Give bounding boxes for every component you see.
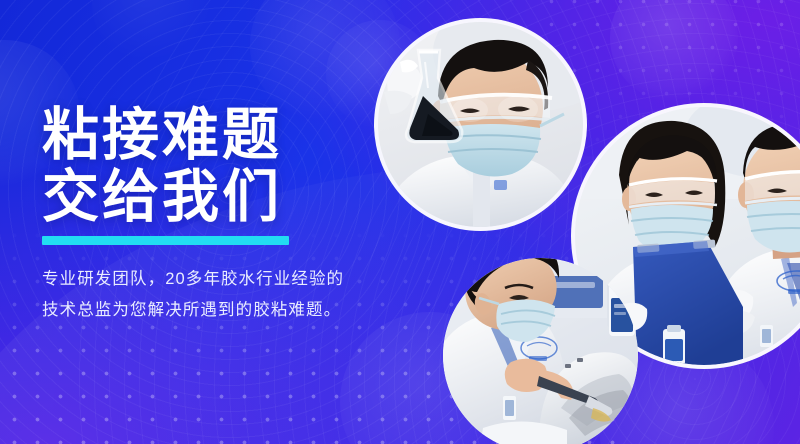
headline-underline-bar bbox=[42, 236, 289, 245]
promo-banner: 粘接难题 交给我们 专业研发团队，20多年胶水行业经验的 技术总监为您解决所遇到… bbox=[0, 0, 800, 444]
photo-technician-image bbox=[443, 258, 638, 444]
headline-line-1: 粘接难题 bbox=[42, 104, 382, 166]
subtitle-line-2: 技术总监为您解决所遇到的胶粘难题。 bbox=[42, 295, 382, 326]
photo-scientist-flask: 白大褂研究员戴护目镜与口罩，手持装有深色液体的锥形瓶 bbox=[378, 22, 583, 227]
headline-line-2: 交给我们 bbox=[42, 166, 382, 228]
headline-block: 粘接难题 交给我们 专业研发团队，20多年胶水行业经验的 技术总监为您解决所遇到… bbox=[42, 104, 382, 326]
photo-scientist-flask-image bbox=[378, 22, 583, 227]
photo-technician-applying-glue: 技术人员在白色设备上涂胶操作 bbox=[443, 258, 638, 444]
